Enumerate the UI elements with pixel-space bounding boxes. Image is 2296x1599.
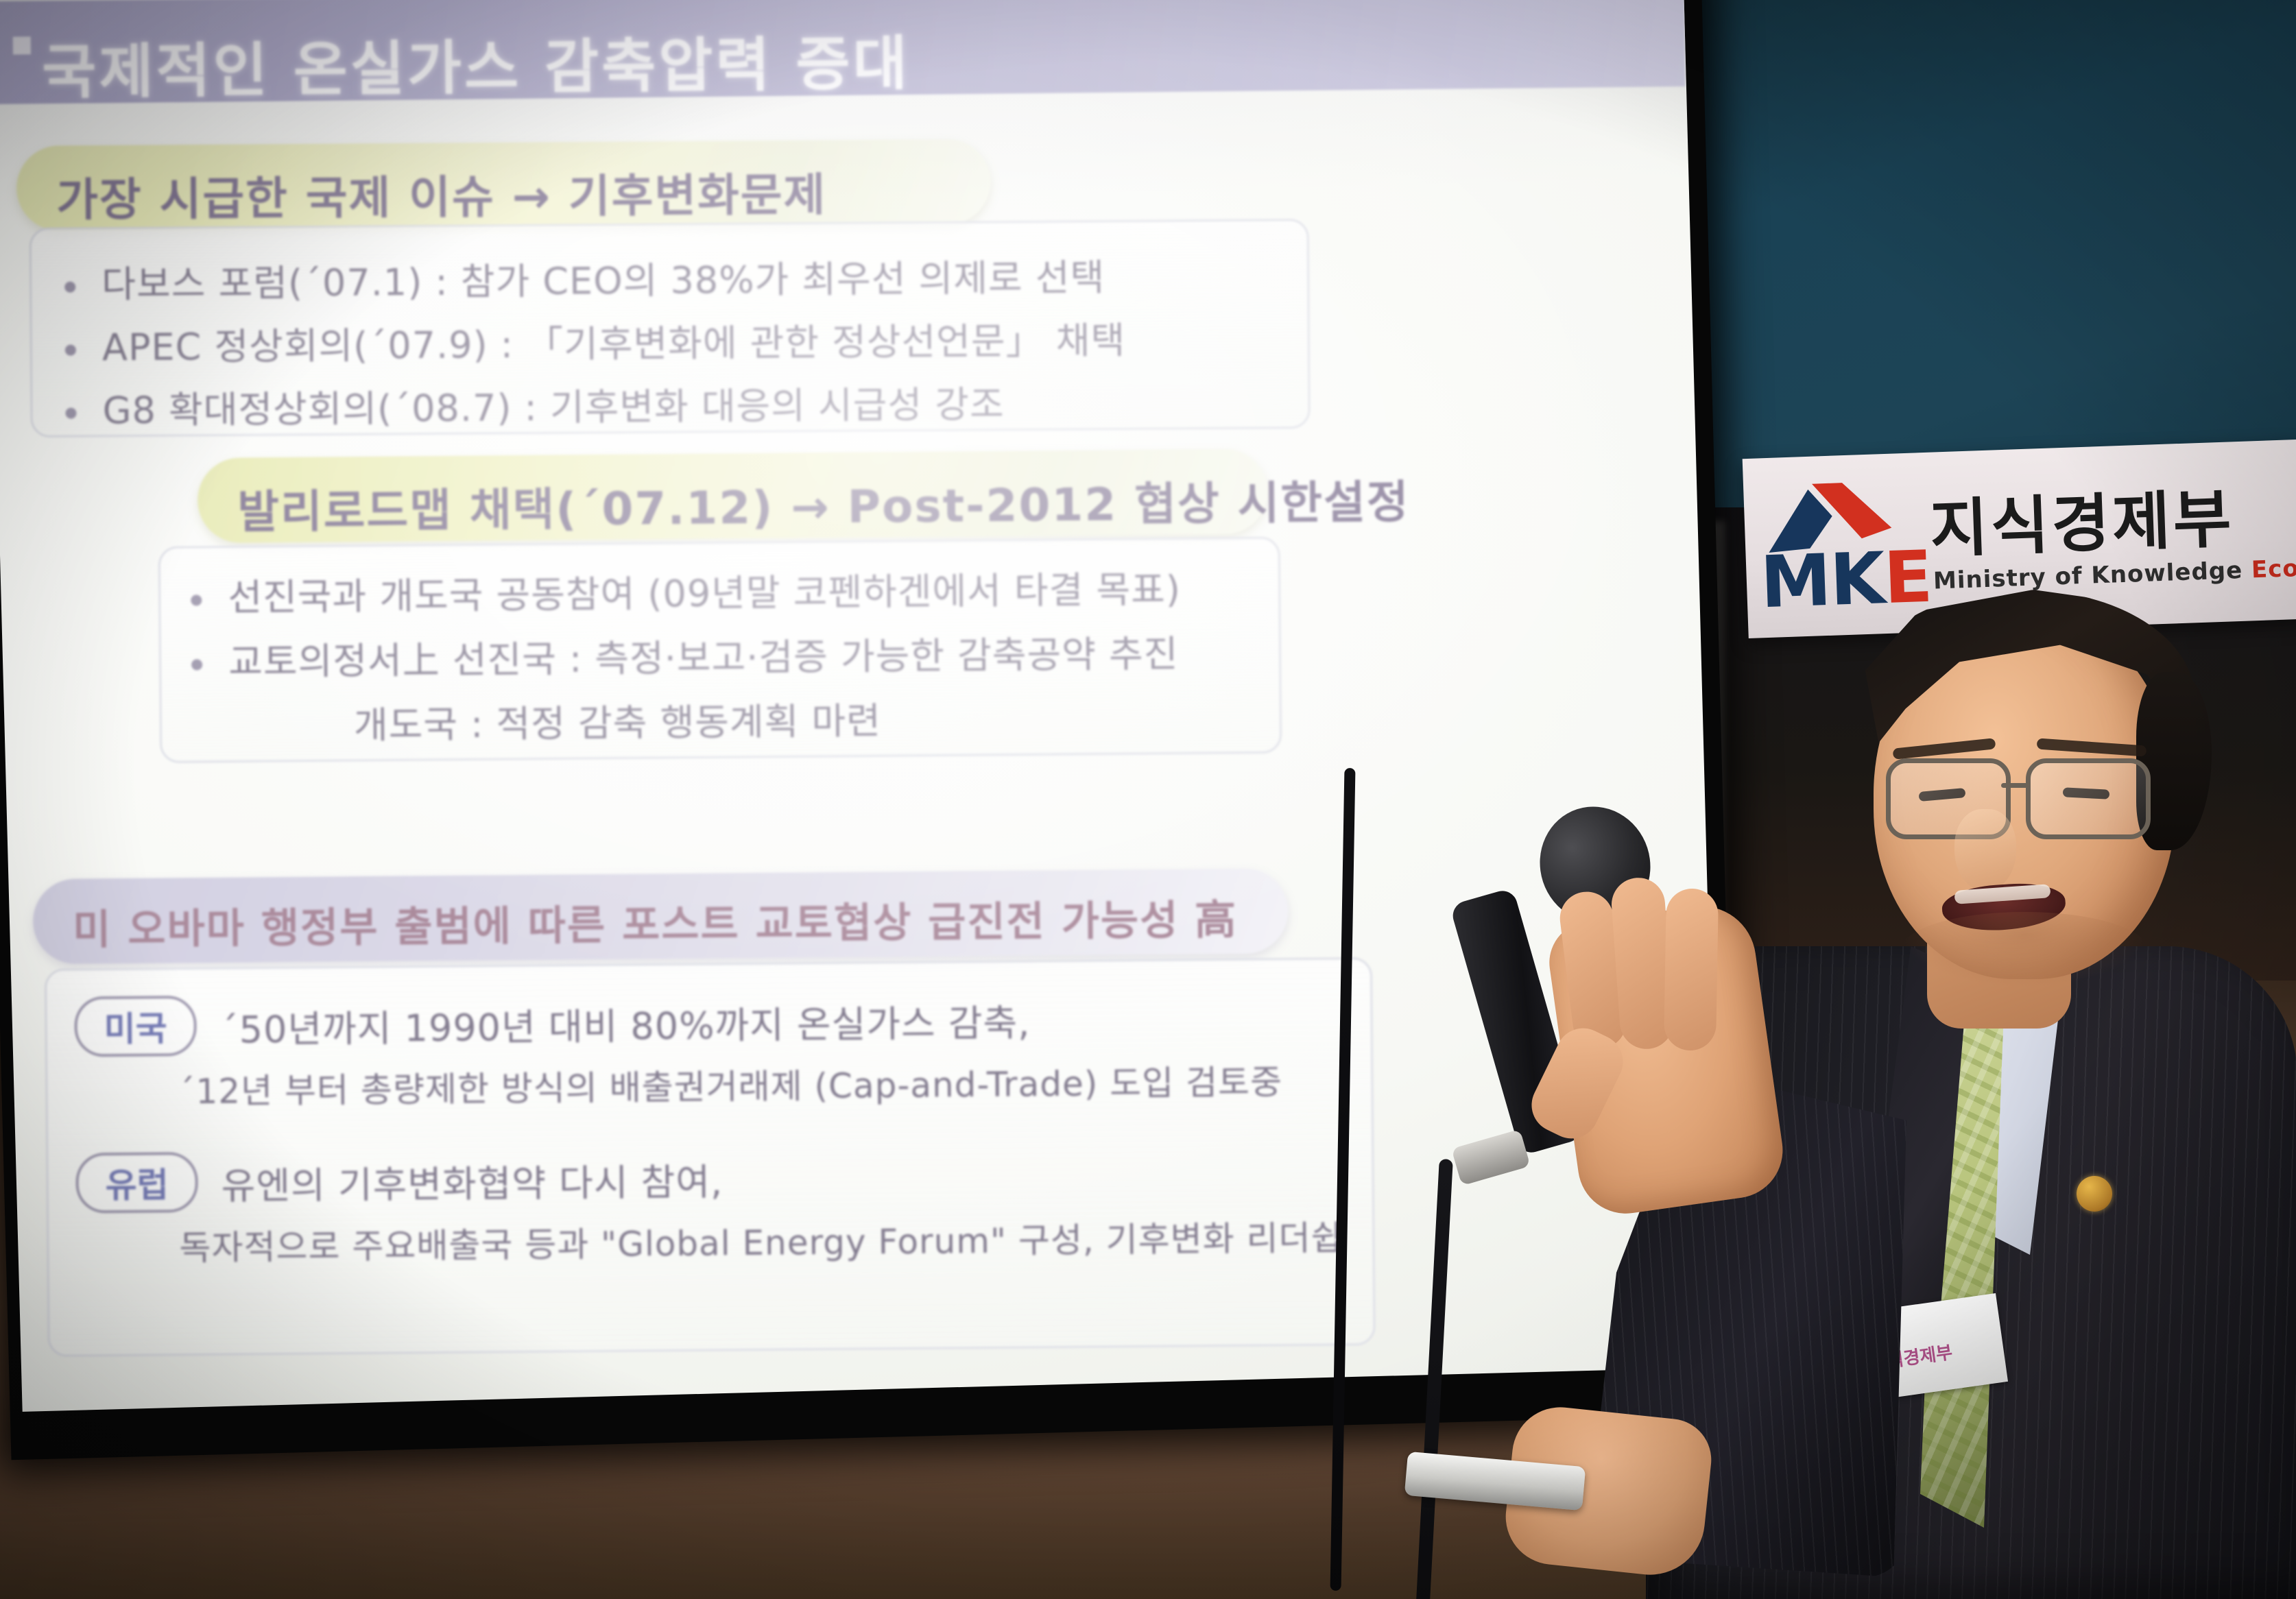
section1-bullet-1: 다보스 포럼(´07.1) : 참가 CEO의 38%가 최우선 의제로 선택 bbox=[64, 247, 1105, 309]
section2-bullet-1: 선진국과 개도국 공동참여 (09년말 코펜하겐에서 타결 목표) bbox=[191, 559, 1181, 622]
country-tag-eu: 유럽 bbox=[75, 1152, 198, 1214]
projection-screen-frame: 국제적인 온실가스 감축압력 증대 가장 시급한 국제 이슈 → 기후변화문제 … bbox=[0, 0, 1739, 1460]
section1-header-text: 가장 시급한 국제 이슈 → 기후변화문제 bbox=[56, 158, 827, 230]
presentation-slide: 국제적인 온실가스 감축압력 증대 가장 시급한 국제 이슈 → 기후변화문제 … bbox=[0, 0, 1720, 1412]
bullet-dot-icon bbox=[191, 595, 202, 606]
photo-canvas: 국제적인 온실가스 감축압력 증대 가장 시급한 국제 이슈 → 기후변화문제 … bbox=[0, 0, 2296, 1599]
section2-bullet-3: 개도국 : 적정 감축 행동계획 마련 bbox=[354, 690, 882, 749]
bullet-dot-icon bbox=[64, 282, 75, 293]
slide-title-band: 국제적인 온실가스 감축압력 증대 bbox=[0, 0, 1686, 104]
section3-us-line-2: ´12년 부터 총량제한 방식의 배출권거래제 (Cap-and-Trade) … bbox=[178, 1055, 1282, 1114]
speaker-chin-shadow bbox=[1901, 912, 2148, 987]
section1-header-pill: 가장 시급한 국제 이슈 → 기후변화문제 bbox=[16, 139, 991, 231]
section3-eu-line-1: 유엔의 기후변화협약 다시 참여, bbox=[221, 1151, 723, 1210]
section3-header-text: 미 오바마 행정부 출범에 따른 포스트 교토협상 급진전 가능성 高 bbox=[73, 887, 1238, 957]
section1-bullet-3: G8 확대정상회의(´08.7) : 기후변화 대응의 시급성 강조 bbox=[65, 374, 1005, 435]
section2-bullet-2: 교토의정서上 선진국 : 측정·보고·검증 가능한 감축공약 추진 bbox=[191, 623, 1179, 686]
slide-title: 국제적인 온실가스 감축압력 증대 bbox=[42, 15, 911, 110]
country-tag-us: 미국 bbox=[74, 996, 197, 1057]
bullet-dot-icon bbox=[191, 660, 202, 671]
section3-us-line-1: ´50년까지 1990년 대비 80%까지 온실가스 감축, bbox=[219, 992, 1030, 1053]
government-lapel-pin-icon bbox=[2077, 1176, 2112, 1212]
bullet-dot-icon bbox=[65, 345, 76, 356]
sign-korean-name: 지식경제부 bbox=[1928, 468, 2236, 569]
title-bullet-icon bbox=[13, 36, 31, 54]
section2-header-text: 발리로드맵 채택(´07.12) → Post-2012 협상 시한설정 bbox=[237, 466, 1410, 542]
glasses-bridge bbox=[2001, 783, 2029, 788]
upper-navy-panel bbox=[1632, 0, 2296, 507]
section3-card: 미국 ´50년까지 1990년 대비 80%까지 온실가스 감축, ´12년 부… bbox=[45, 957, 1376, 1357]
glasses-lens-right bbox=[2026, 758, 2151, 839]
section1-card: 다보스 포럼(´07.1) : 참가 CEO의 38%가 최우선 의제로 선택 … bbox=[29, 219, 1311, 437]
bullet-dot-icon bbox=[65, 408, 76, 419]
section3-header-pill: 미 오바마 행정부 출범에 따른 포스트 교토협상 급진전 가능성 高 bbox=[33, 868, 1289, 964]
projection-screen: 국제적인 온실가스 감축압력 증대 가장 시급한 국제 이슈 → 기후변화문제 … bbox=[0, 0, 1720, 1412]
speaker: 지식경제부 bbox=[1632, 590, 2296, 1599]
speaker-glasses-icon bbox=[1874, 753, 2196, 842]
section2-header-pill: 발리로드맵 채택(´07.12) → Post-2012 협상 시한설정 bbox=[198, 448, 1268, 543]
section3-eu-line-2: 독자적으로 주요배출국 등과 "Global Energy Forum" 구성,… bbox=[179, 1210, 1343, 1270]
hand-finger bbox=[1664, 888, 1719, 1050]
section1-bullet-2: APEC 정상회의(´07.9) : 「기후변화에 관한 정상선언문」 채택 bbox=[65, 310, 1126, 372]
speaker-nose bbox=[1954, 809, 2016, 891]
section2-card: 선진국과 개도국 공동참여 (09년말 코펜하겐에서 타결 목표) 교토의정서上… bbox=[158, 537, 1282, 763]
